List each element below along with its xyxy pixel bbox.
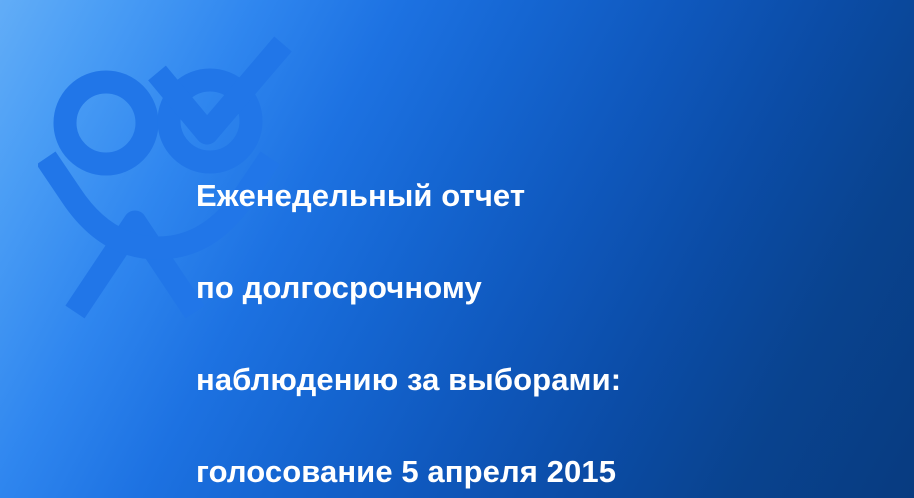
page-title: Еженедельный отчет по долгосрочному набл… [196, 127, 736, 498]
page-title-line-2: по долгосрочному [196, 265, 736, 311]
page-title-line-1: Еженедельный отчет [196, 173, 736, 219]
left-eye-ring-icon [65, 82, 147, 164]
report-banner: Еженедельный отчет по долгосрочному набл… [0, 0, 914, 498]
page-title-line-3: наблюдению за выборами: [196, 357, 736, 403]
page-title-line-4: голосование 5 апреля 2015 [196, 449, 736, 495]
